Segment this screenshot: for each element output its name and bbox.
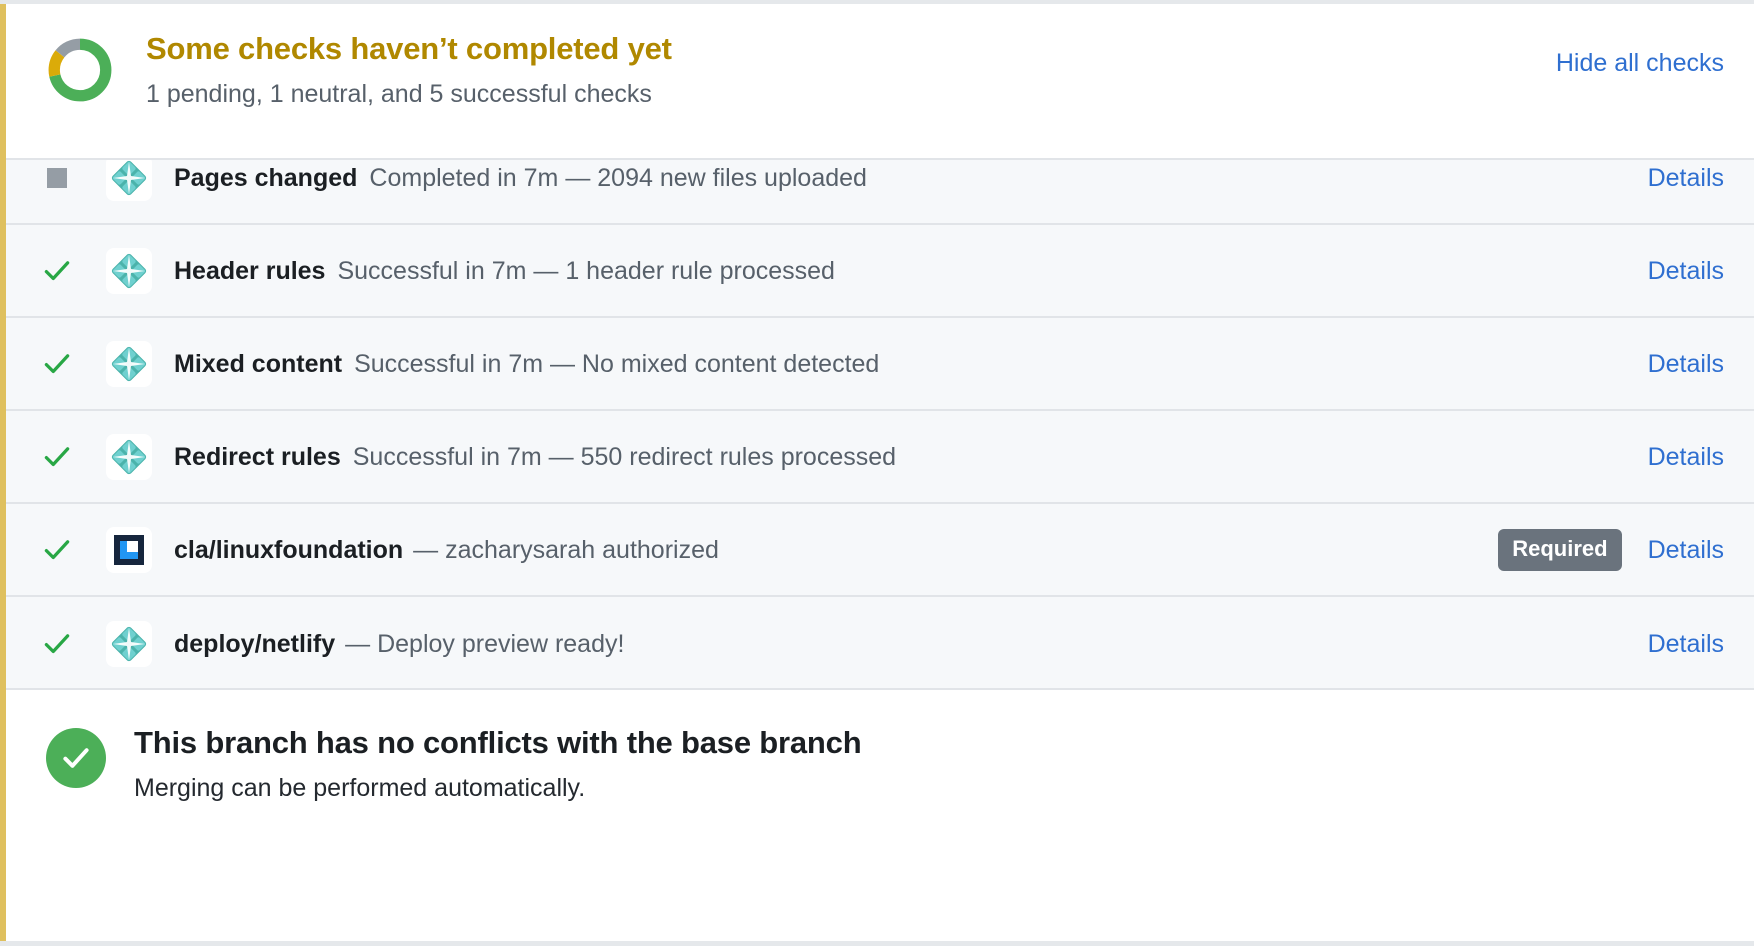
check-description: Successful in 7m — 1 header rule process… bbox=[337, 256, 834, 286]
check-name: Mixed content bbox=[174, 349, 342, 379]
success-check-icon bbox=[40, 349, 74, 379]
check-name: Pages changed bbox=[174, 163, 357, 193]
success-check-icon bbox=[40, 256, 74, 286]
table-row[interactable]: Mixed content Successful in 7m — No mixe… bbox=[6, 318, 1754, 411]
pull-request-merge-box-screenshot: Some checks haven’t completed yet 1 pend… bbox=[0, 0, 1754, 946]
details-link[interactable]: Details bbox=[1648, 256, 1724, 286]
check-name: Redirect rules bbox=[174, 442, 341, 472]
details-link[interactable]: Details bbox=[1648, 629, 1724, 659]
check-name: cla/linuxfoundation bbox=[174, 535, 403, 565]
table-row[interactable]: Pages changed Completed in 7m — 2094 new… bbox=[6, 158, 1754, 225]
table-row[interactable]: Redirect rules Successful in 7m — 550 re… bbox=[6, 411, 1754, 504]
details-link[interactable]: Details bbox=[1648, 163, 1724, 193]
netlify-icon bbox=[106, 341, 152, 387]
check-description: — Deploy preview ready! bbox=[345, 629, 624, 659]
checks-status-title: Some checks haven’t completed yet bbox=[146, 30, 672, 68]
table-row[interactable]: Header rules Successful in 7m — 1 header… bbox=[6, 225, 1754, 318]
check-description: Successful in 7m — No mixed content dete… bbox=[354, 349, 879, 379]
linuxfoundation-icon bbox=[106, 527, 152, 573]
merge-status-title: This branch has no conflicts with the ba… bbox=[134, 724, 861, 762]
success-check-icon bbox=[40, 535, 74, 565]
netlify-icon bbox=[106, 621, 152, 667]
neutral-status-icon bbox=[40, 168, 74, 188]
check-description: — zacharysarah authorized bbox=[413, 535, 719, 565]
checks-header: Some checks haven’t completed yet 1 pend… bbox=[6, 4, 1754, 158]
status-badge: Required bbox=[1498, 529, 1621, 571]
checks-header-text: Some checks haven’t completed yet 1 pend… bbox=[146, 30, 672, 110]
table-row[interactable]: deploy/netlify — Deploy preview ready! D… bbox=[6, 597, 1754, 690]
merge-status-text: This branch has no conflicts with the ba… bbox=[134, 724, 861, 804]
check-description: Completed in 7m — 2094 new files uploade… bbox=[369, 163, 867, 193]
netlify-icon bbox=[106, 434, 152, 480]
checks-list-scroll-content: Pages changed Completed in 7m — 2094 new… bbox=[6, 158, 1754, 690]
success-check-icon bbox=[40, 442, 74, 472]
check-description: Successful in 7m — 550 redirect rules pr… bbox=[353, 442, 896, 472]
netlify-icon bbox=[106, 158, 152, 201]
details-link[interactable]: Details bbox=[1648, 535, 1724, 565]
merge-box: Some checks haven’t completed yet 1 pend… bbox=[0, 4, 1754, 941]
checks-status-summary: 1 pending, 1 neutral, and 5 successful c… bbox=[146, 78, 672, 110]
netlify-icon bbox=[106, 248, 152, 294]
details-link[interactable]: Details bbox=[1648, 442, 1724, 472]
bottom-divider bbox=[0, 941, 1754, 946]
check-name: Header rules bbox=[174, 256, 325, 286]
checks-status-donut-chart bbox=[46, 36, 114, 104]
check-circle-icon bbox=[46, 728, 106, 788]
checks-list[interactable]: Pages changed Completed in 7m — 2094 new… bbox=[6, 158, 1754, 690]
merge-conflict-status: This branch has no conflicts with the ba… bbox=[6, 690, 1754, 941]
merge-status-subtitle: Merging can be performed automatically. bbox=[134, 772, 861, 804]
details-link[interactable]: Details bbox=[1648, 349, 1724, 379]
table-row[interactable]: cla/linuxfoundation — zacharysarah autho… bbox=[6, 504, 1754, 597]
check-name: deploy/netlify bbox=[174, 629, 335, 659]
success-check-icon bbox=[40, 629, 74, 659]
hide-all-checks-link[interactable]: Hide all checks bbox=[1556, 48, 1724, 78]
